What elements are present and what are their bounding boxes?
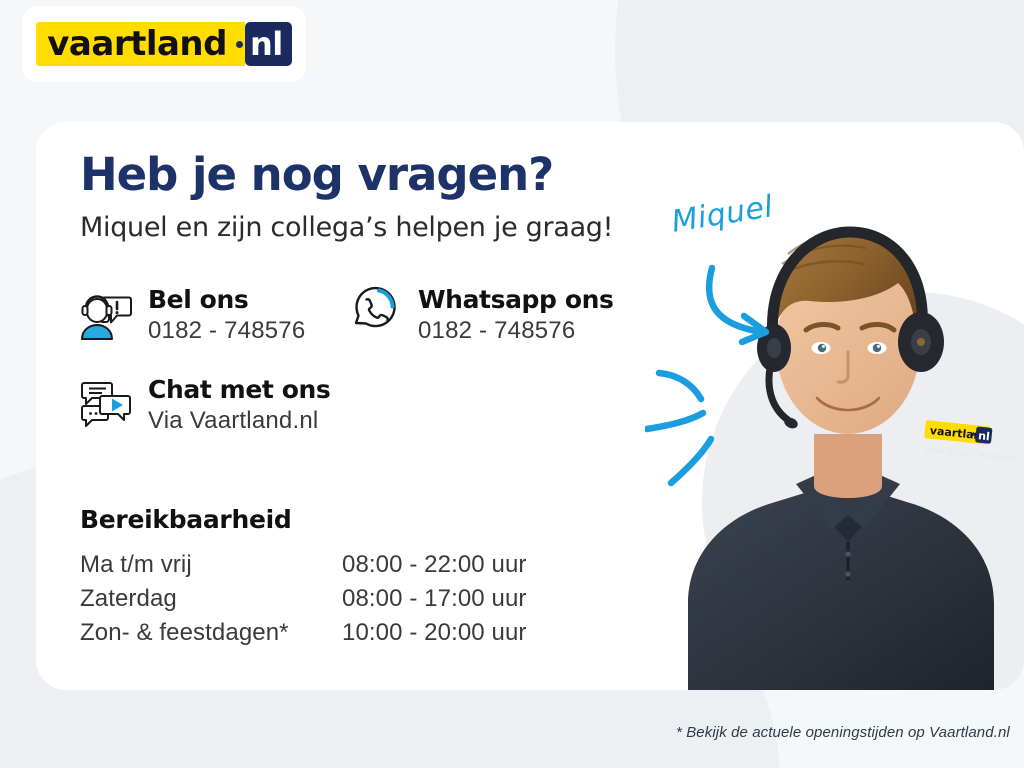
contact-title-whatsapp: Whatsapp ons — [418, 285, 614, 315]
table-row: Zon- & feestdagen* 10:00 - 20:00 uur — [80, 616, 527, 650]
page-title: Heb je nog vragen? — [80, 152, 553, 197]
contact-method-chat[interactable]: Chat met ons Via Vaartland.nl — [78, 373, 330, 437]
dot-separator-icon — [236, 22, 245, 66]
table-row: Zaterdag 08:00 - 17:00 uur — [80, 582, 527, 616]
contact-text-whatsapp: Whatsapp ons 0182 - 748576 — [418, 283, 614, 347]
availability-title: Bereikbaarheid — [80, 505, 291, 535]
contact-method-phone[interactable]: Bel ons 0182 - 748576 — [78, 283, 305, 347]
chat-bubbles-icon — [78, 373, 134, 431]
logo-wordmark: vaartland — [36, 22, 236, 66]
brand-logo[interactable]: vaartland nl — [22, 6, 306, 82]
curved-arrow-icon — [700, 262, 810, 357]
motion-lines-icon — [645, 365, 775, 490]
contact-detail-chat: Via Vaartland.nl — [148, 405, 330, 437]
background-strip-bottom — [0, 700, 700, 768]
availability-hours: 08:00 - 17:00 uur — [342, 582, 527, 616]
svg-text:doe jezelf een plezier: doe jezelf een plezier — [924, 444, 1018, 467]
contact-title-phone: Bel ons — [148, 285, 305, 315]
availability-day: Zaterdag — [80, 582, 342, 616]
availability-hours: 08:00 - 22:00 uur — [342, 548, 527, 582]
footnote-text: * Bekijk de actuele openingstijden op Va… — [676, 723, 1010, 743]
svg-text:nl: nl — [978, 429, 991, 443]
contact-detail-whatsapp: 0182 - 748576 — [418, 315, 614, 347]
contact-detail-phone: 0182 - 748576 — [148, 315, 305, 347]
contact-text-phone: Bel ons 0182 - 748576 — [148, 283, 305, 347]
logo-tld: nl — [245, 22, 292, 66]
table-row: Ma t/m vrij 08:00 - 22:00 uur — [80, 548, 527, 582]
availability-day: Zon- & feestdagen* — [80, 616, 342, 650]
availability-hours: 10:00 - 20:00 uur — [342, 616, 527, 650]
promo-banner: vaartland nl Heb je nog vragen? Miquel e… — [0, 0, 1024, 768]
headset-agent-icon — [78, 283, 134, 341]
contact-title-chat: Chat met ons — [148, 375, 330, 405]
logo-lockup: vaartland nl — [36, 22, 291, 66]
whatsapp-phone-icon — [348, 283, 404, 341]
availability-table: Ma t/m vrij 08:00 - 22:00 uur Zaterdag 0… — [80, 548, 527, 650]
availability-day: Ma t/m vrij — [80, 548, 342, 582]
page-subtitle: Miquel en zijn collega’s helpen je graag… — [80, 213, 613, 243]
contact-text-chat: Chat met ons Via Vaartland.nl — [148, 373, 330, 437]
contact-method-whatsapp[interactable]: Whatsapp ons 0182 - 748576 — [348, 283, 614, 347]
